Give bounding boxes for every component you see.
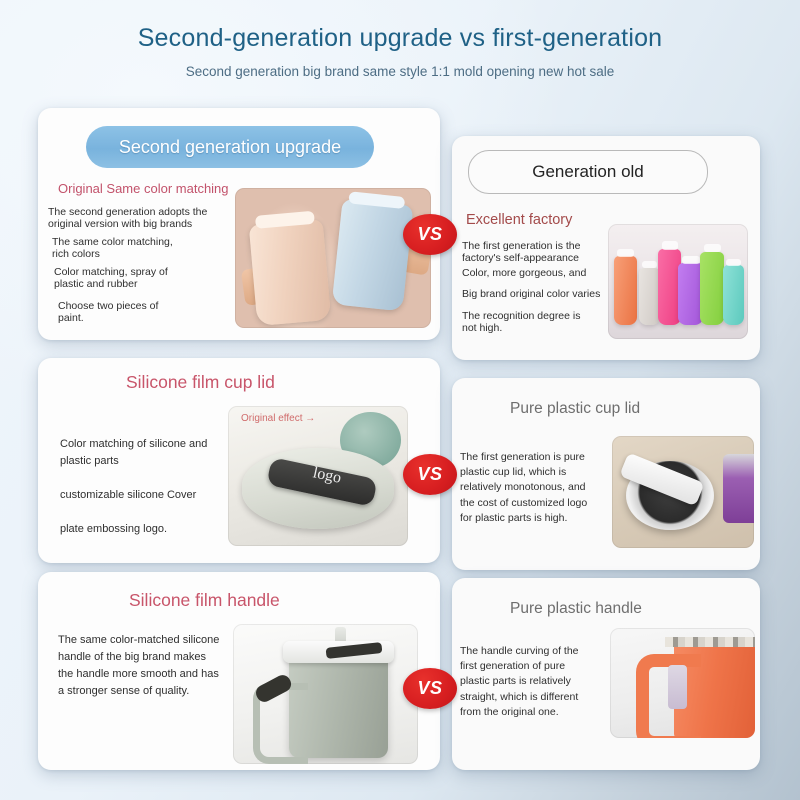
bullet-1: The first generation is the factory's se…: [462, 240, 612, 265]
orange-plastic-handle-photo: [610, 628, 755, 738]
body-text: Color matching of silicone and plastic p…: [60, 436, 240, 538]
card-row3-pure-plastic-handle[interactable]: Pure plastic handle The handle curving o…: [452, 578, 760, 770]
badge-second-generation-upgrade: Second generation upgrade: [86, 126, 374, 168]
heading-silicone-film-cup-lid: Silicone film cup lid: [126, 372, 275, 393]
plastic-lid-photo: [612, 436, 754, 548]
card-row1-new-generation[interactable]: Second generation upgrade Original Same …: [38, 108, 440, 340]
badge-generation-old: Generation old: [468, 150, 708, 194]
silicone-handle-mug-photo: [233, 624, 418, 764]
page-title: Second-generation upgrade vs first-gener…: [0, 24, 800, 53]
bullet-2: The same color matching, rich colors: [52, 236, 262, 261]
bullet-3: Big brand original color varies: [462, 288, 632, 300]
vs-badge-row2: VS: [403, 454, 457, 495]
product-comparison-poster: Second-generation upgrade vs first-gener…: [0, 0, 800, 800]
body-text: The same color-matched silicone handle o…: [58, 632, 248, 700]
card-row3-silicone-film-handle[interactable]: Silicone film handle The same color-matc…: [38, 572, 440, 770]
body-text: The first generation is pure plastic cup…: [460, 450, 612, 526]
heading-silicone-film-handle: Silicone film handle: [129, 590, 280, 611]
colorful-tumblers-photo: [608, 224, 748, 339]
heading-pure-plastic-cup-lid: Pure plastic cup lid: [510, 400, 640, 418]
heading-excellent-factory: Excellent factory: [466, 212, 572, 228]
bullet-3: Color matching, spray of plastic and rub…: [54, 266, 264, 291]
heading-original-same-color-matching: Original Same color matching: [58, 181, 229, 196]
bullet-1: The second generation adopts the origina…: [48, 206, 258, 231]
poster-header: Second-generation upgrade vs first-gener…: [0, 24, 800, 79]
page-subtitle: Second generation big brand same style 1…: [0, 64, 800, 79]
vs-badge-row3: VS: [403, 668, 457, 709]
bullet-4: The recognition degree is not high.: [462, 310, 622, 335]
silicone-lid-logo-photo: logo: [228, 406, 408, 546]
heading-pure-plastic-handle: Pure plastic handle: [510, 600, 642, 618]
annotation-original-effect: Original effect →: [241, 413, 315, 424]
card-row2-pure-plastic-cup-lid[interactable]: Pure plastic cup lid The first generatio…: [452, 378, 760, 570]
vs-badge-row1: VS: [403, 214, 457, 255]
body-text: The handle curving of the first generati…: [460, 644, 610, 720]
two-tone-tumblers-photo: [235, 188, 431, 328]
bullet-2: Color, more gorgeous, and: [462, 267, 622, 279]
card-row2-silicone-film-cup-lid[interactable]: Silicone film cup lid Color matching of …: [38, 358, 440, 563]
card-row1-old-generation[interactable]: Generation old Excellent factory The fir…: [452, 136, 760, 360]
